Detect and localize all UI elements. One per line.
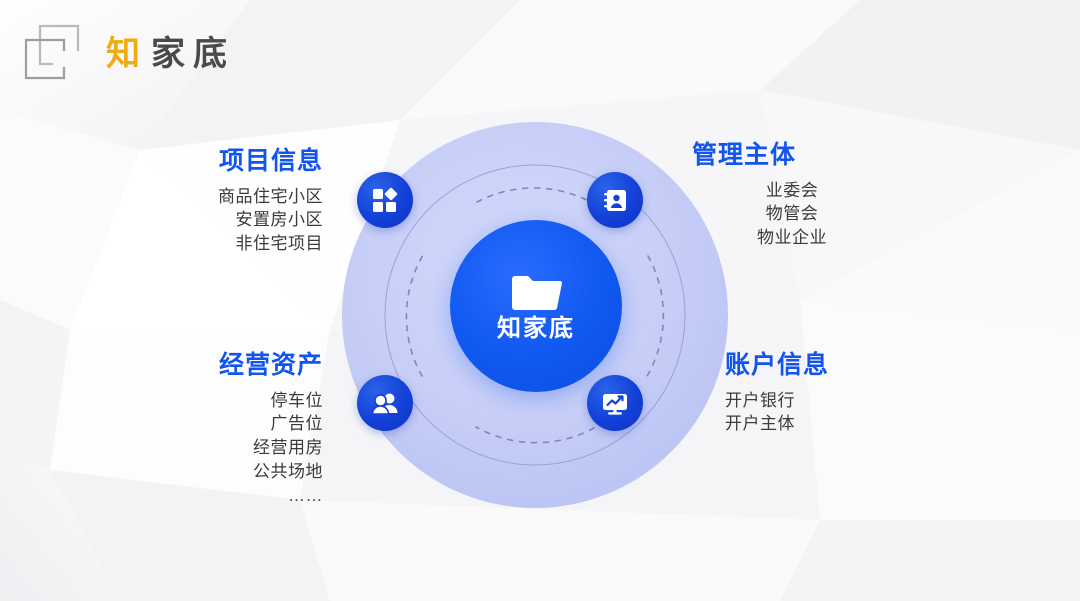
group-project: 项目信息 商品住宅小区 安置房小区 非住宅项目: [140, 148, 323, 256]
group-manage: 管理主体 业委会 物管会 物业企业: [692, 142, 892, 250]
group-assets-title: 经营资产: [130, 352, 323, 380]
brand-logo: 知 家底: [18, 10, 235, 98]
core-label: 知家底: [497, 317, 575, 341]
brand-accent-char: 知: [106, 37, 142, 71]
list-item: 安置房小区: [140, 208, 323, 232]
node-assets[interactable]: [357, 375, 413, 431]
group-account: 账户信息 开户银行 开户主体: [725, 352, 925, 436]
monitor-chart-icon: [601, 390, 629, 417]
apps-grid-icon: [372, 187, 399, 214]
node-account[interactable]: [587, 375, 643, 431]
node-project[interactable]: [357, 172, 413, 228]
list-item: 物管会: [692, 202, 892, 226]
group-project-title: 项目信息: [140, 148, 323, 176]
slide-canvas: 知 家底: [0, 0, 1080, 601]
list-item-ellipsis: ……: [130, 484, 323, 508]
brand-rest-chars: 家底: [151, 37, 235, 71]
central-diagram: 知家底: [330, 110, 740, 520]
contact-book-icon: [602, 187, 629, 214]
list-item: 开户银行: [725, 389, 925, 413]
list-item: 停车位: [130, 389, 323, 413]
list-item: 广告位: [130, 412, 323, 436]
group-account-title: 账户信息: [725, 352, 925, 380]
list-item: 商品住宅小区: [140, 185, 323, 209]
group-manage-items: 业委会 物管会 物业企业: [692, 179, 892, 250]
folder-icon: [509, 272, 563, 314]
list-item: 业委会: [692, 179, 892, 203]
list-item: 开户主体: [725, 412, 925, 436]
list-item: 物业企业: [692, 226, 892, 250]
group-assets-items: 停车位 广告位 经营用房 公共场地 ……: [130, 389, 323, 508]
group-account-items: 开户银行 开户主体: [725, 389, 925, 437]
overlapping-squares-logo-icon: [18, 16, 94, 92]
group-project-items: 商品住宅小区 安置房小区 非住宅项目: [140, 185, 323, 256]
brand-wordmark: 知 家底: [106, 37, 235, 71]
node-manage[interactable]: [587, 172, 643, 228]
list-item: 公共场地: [130, 460, 323, 484]
users-group-icon: [371, 390, 400, 417]
list-item: 经营用房: [130, 436, 323, 460]
list-item: 非住宅项目: [140, 232, 323, 256]
group-manage-title: 管理主体: [692, 142, 892, 170]
core-node[interactable]: 知家底: [450, 220, 622, 392]
group-assets: 经营资产 停车位 广告位 经营用房 公共场地 ……: [130, 352, 323, 507]
